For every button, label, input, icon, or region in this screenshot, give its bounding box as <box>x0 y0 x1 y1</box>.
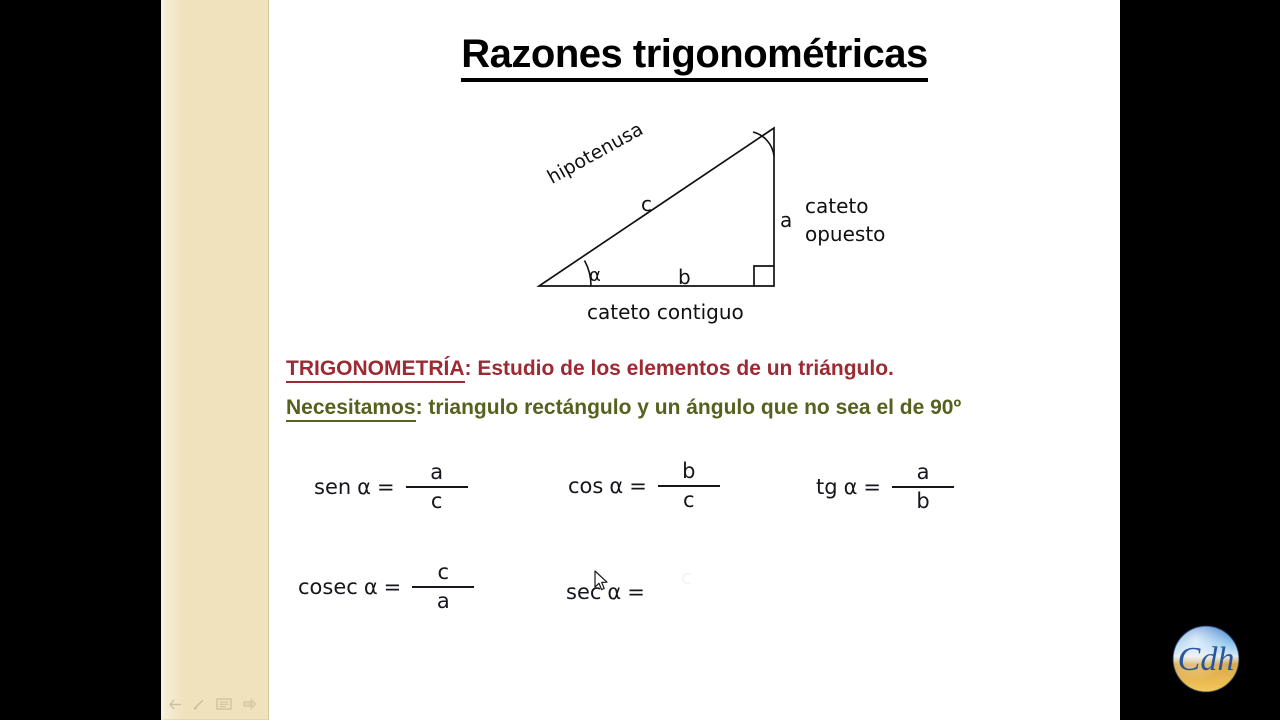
formula-tg-name: tg <box>816 475 838 499</box>
pen-icon[interactable] <box>193 699 205 710</box>
page-icon[interactable] <box>216 698 232 710</box>
formula-tg-denominator: b <box>916 488 929 512</box>
formula-sec-arg: α <box>607 580 621 604</box>
formula-cos-numerator: b <box>682 461 695 485</box>
formula-sen-arg: α <box>357 475 371 499</box>
formula-tg-fraction: a b <box>891 462 955 512</box>
formula-cosec-denominator: a <box>437 588 450 612</box>
sidebar-edge-highlight <box>161 0 165 720</box>
hypotenuse-letter-label: c <box>641 192 652 216</box>
formula-tg-equals: = <box>863 475 881 499</box>
formula-tg-arg: α <box>844 475 858 499</box>
formula-cosec-numerator: c <box>437 562 449 586</box>
formula-cosec-fraction: c a <box>411 562 475 612</box>
channel-logo: Cdh <box>1171 624 1241 694</box>
formula-sen: sen α = a c <box>314 462 469 512</box>
sidebar-tool-strip[interactable] <box>164 694 276 714</box>
formula-cosec-arg: α <box>364 575 378 599</box>
ghost-character: c <box>681 565 692 589</box>
opposite-side-label: catetoopuesto <box>805 192 885 248</box>
video-player-stage: Razones trigonométricas hipotenusa c a b… <box>0 0 1280 720</box>
adjacent-side-label: cateto contiguo <box>587 300 744 324</box>
formula-cos-name: cos <box>568 474 603 498</box>
formula-cosec: cosec α = c a <box>298 562 475 612</box>
formula-cos-equals: = <box>629 474 647 498</box>
definition-trigonometria: TRIGONOMETRÍA: Estudio de los elementos … <box>286 357 894 381</box>
right-triangle-figure: hipotenusa c a b α catetoopuesto cateto … <box>529 110 949 340</box>
adjacent-side-letter-label: b <box>678 265 691 289</box>
page-title: Razones trigonométricas <box>269 32 1120 77</box>
formula-sen-name: sen <box>314 475 351 499</box>
notebook-sidebar-panel <box>161 0 269 720</box>
formula-tg: tg α = a b <box>816 462 955 512</box>
formula-sen-equals: = <box>377 475 395 499</box>
definition-trigonometria-key: TRIGONOMETRÍA <box>286 357 465 383</box>
formula-cos-fraction: b c <box>657 461 721 511</box>
formula-sec: sec α = <box>566 580 655 604</box>
formula-tg-numerator: a <box>917 462 930 486</box>
formula-sen-fraction: a c <box>405 462 469 512</box>
definition-necesitamos: Necesitamos: triangulo rectángulo y un á… <box>286 396 961 420</box>
formula-cosec-name: cosec <box>298 575 358 599</box>
page-title-text: Razones trigonométricas <box>461 32 927 82</box>
opposite-side-label-line2: opuesto <box>805 222 885 246</box>
formula-cos-denominator: c <box>683 487 695 511</box>
formula-cos-arg: α <box>609 474 623 498</box>
formula-cos: cos α = b c <box>568 461 721 511</box>
opposite-side-label-line1: cateto <box>805 194 868 218</box>
definition-trigonometria-text: : Estudio de los elementos de un triángu… <box>465 357 894 380</box>
svg-text:Cdh: Cdh <box>1178 641 1235 678</box>
slide-canvas: Razones trigonométricas hipotenusa c a b… <box>269 0 1120 720</box>
formula-sec-name: sec <box>566 580 601 604</box>
formula-sen-numerator: a <box>430 462 443 486</box>
forward-arrow-icon[interactable] <box>243 698 257 710</box>
definition-necesitamos-key: Necesitamos <box>286 396 416 422</box>
alpha-angle-label: α <box>589 265 601 286</box>
formula-sec-equals: = <box>627 580 645 604</box>
formula-cosec-equals: = <box>384 575 402 599</box>
formula-sen-denominator: c <box>431 488 443 512</box>
opposite-side-letter-label: a <box>780 208 792 232</box>
definition-necesitamos-text: : triangulo rectángulo y un ángulo que n… <box>416 396 962 419</box>
back-arrow-icon[interactable] <box>169 699 182 710</box>
